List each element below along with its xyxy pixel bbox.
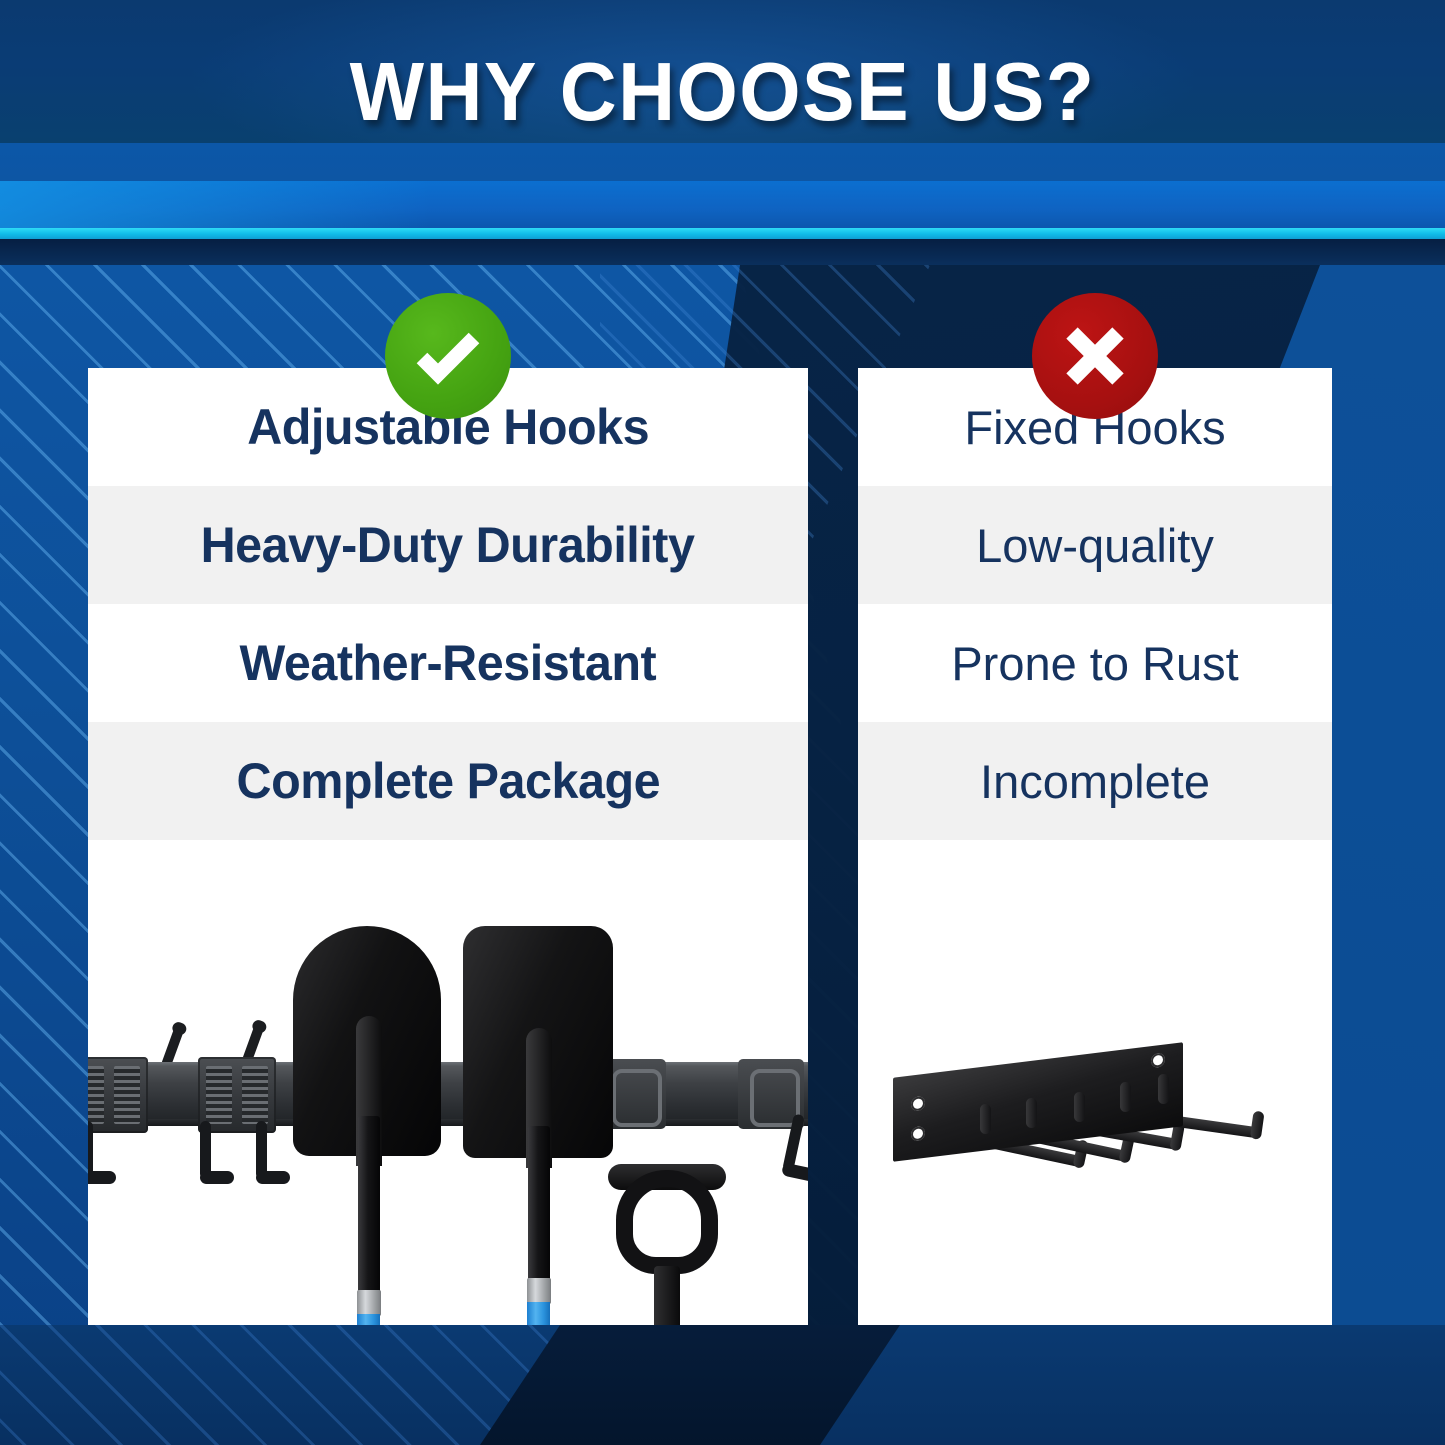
pro-product-image	[88, 916, 808, 1325]
d-handle-neck	[654, 1266, 680, 1325]
con-row: Prone to Rust	[858, 604, 1332, 722]
shovel-ferrule	[357, 1290, 381, 1316]
d-handle-grip	[616, 1170, 718, 1300]
tool-rail	[88, 1066, 808, 1122]
shovel-shaft-blue	[527, 1302, 550, 1325]
pro-item-label: Heavy-Duty Durability	[201, 516, 695, 574]
mounting-hole	[911, 1126, 925, 1142]
mounting-hole	[911, 1096, 925, 1112]
infographic-canvas: WHY CHOOSE US? Adjustable Hooks Heavy-Du…	[0, 0, 1445, 1445]
spring-clip	[88, 1057, 148, 1133]
fixed-hook-stub	[1026, 1098, 1037, 1128]
rail-hook-down-icon	[200, 1121, 211, 1179]
con-row: Low-quality	[858, 486, 1332, 604]
con-product-image	[858, 1008, 1332, 1325]
shovel-ferrule	[527, 1278, 551, 1304]
pro-item-label: Weather-Resistant	[240, 634, 657, 692]
header-band-light	[0, 143, 1445, 181]
hook-mounting-plate	[893, 1042, 1183, 1162]
cross-circle-icon	[1032, 293, 1158, 419]
shovel-shaft-blue	[357, 1314, 380, 1325]
pro-row: Weather-Resistant	[88, 604, 808, 722]
con-item-label: Prone to Rust	[951, 636, 1238, 691]
fixed-hook-stub	[1120, 1082, 1131, 1112]
pro-row: Complete Package	[88, 722, 808, 840]
rail-hook-down-icon	[256, 1121, 267, 1179]
fixed-hook-stub	[980, 1104, 991, 1134]
pro-column-card: Adjustable Hooks Heavy-Duty Durability W…	[88, 368, 808, 1325]
shovel-handle-black	[528, 1126, 550, 1291]
fixed-hook-stub	[1158, 1074, 1169, 1104]
check-circle-icon	[385, 293, 511, 419]
rail-bottom-edge	[88, 1119, 808, 1126]
shovel-handle-black	[358, 1116, 380, 1298]
fixed-hook-stub	[1074, 1092, 1085, 1122]
d-handle-ring	[616, 1170, 718, 1274]
header-band-cyan-accent	[0, 228, 1445, 239]
con-column-card: Fixed Hooks Low-quality Prone to Rust In…	[858, 368, 1332, 1325]
header-band-dark	[0, 239, 1445, 265]
header-band-bright	[0, 181, 1445, 228]
rail-hook-down-icon	[88, 1121, 93, 1179]
con-item-label: Low-quality	[976, 518, 1214, 573]
con-item-label: Incomplete	[980, 754, 1210, 809]
pro-item-label: Complete Package	[236, 752, 660, 810]
mounting-hole	[1151, 1052, 1165, 1068]
pro-row: Heavy-Duty Durability	[88, 486, 808, 604]
page-title: WHY CHOOSE US?	[36, 50, 1409, 133]
con-row: Incomplete	[858, 722, 1332, 840]
